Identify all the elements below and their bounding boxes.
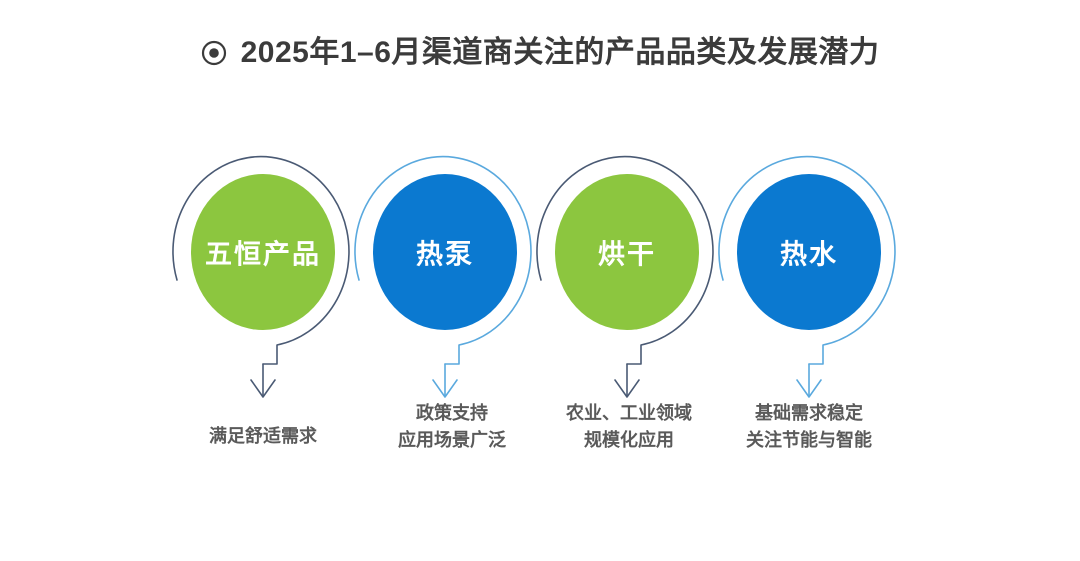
caption-line: 规模化应用 <box>566 427 692 454</box>
caption-line: 基础需求稳定 <box>746 400 872 427</box>
caption-line: 满足舒适需求 <box>209 423 317 450</box>
infographic-canvas: 2025年1–6月渠道商关注的产品品类及发展潜力 <box>0 0 1080 561</box>
node-group-2[interactable] <box>355 157 531 397</box>
node-group-3[interactable] <box>537 157 713 397</box>
node-circle-2[interactable] <box>373 174 517 330</box>
node-caption-2: 政策支持 应用场景广泛 <box>398 400 506 454</box>
process-flow-diagram: 五恒产品 热泵 烘干 热水 满足舒适需求 政策支持 应用场景广泛 农业、工业领域… <box>0 0 1080 561</box>
node-group-4[interactable] <box>719 157 895 397</box>
caption-line: 关注节能与智能 <box>746 427 872 454</box>
caption-line: 政策支持 <box>398 400 506 427</box>
node-caption-3: 农业、工业领域 规模化应用 <box>566 400 692 454</box>
caption-line: 应用场景广泛 <box>398 427 506 454</box>
node-group-1[interactable] <box>173 157 349 397</box>
node-circle-3[interactable] <box>555 174 699 330</box>
node-caption-1: 满足舒适需求 <box>209 423 317 450</box>
node-circle-1[interactable] <box>191 174 335 330</box>
diagram-vector-layer <box>0 0 1080 561</box>
caption-line: 农业、工业领域 <box>566 400 692 427</box>
node-circle-4[interactable] <box>737 174 881 330</box>
node-caption-4: 基础需求稳定 关注节能与智能 <box>746 400 872 454</box>
